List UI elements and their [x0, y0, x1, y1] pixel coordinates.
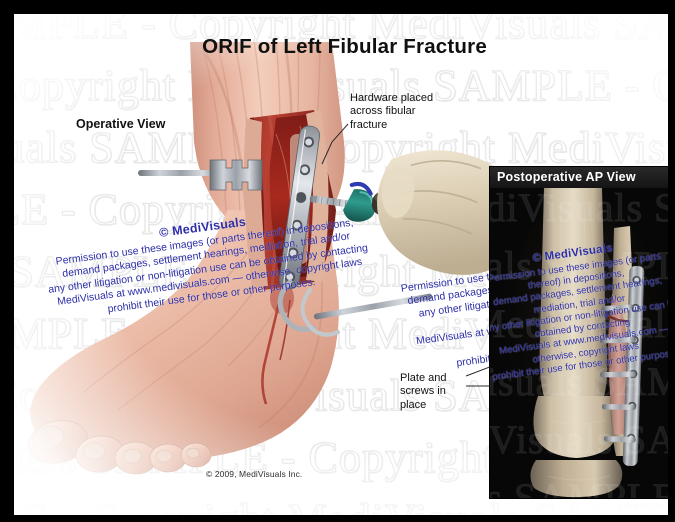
plate-screws-callout-line-2: screws in — [400, 385, 470, 398]
permission-watermark-left: © MediVisuals Permission to use these im… — [38, 198, 376, 325]
operative-view-label: Operative View — [76, 117, 165, 132]
page-title: ORIF of Left Fibular Fracture — [14, 35, 675, 59]
background-watermark-row: MediVisuals SAMPLE - Copyright MediVisua… — [14, 494, 675, 522]
postoperative-ap-view-header: Postoperative AP View — [490, 167, 672, 188]
hardware-callout-label: Hardware placed across fibular fracture — [350, 92, 455, 132]
permission-watermark-line-1: Permission to use these images (or parts… — [40, 215, 369, 271]
copyright-notice: © 2009, MediVisuals Inc. — [206, 469, 302, 479]
plate-screws-callout-line-3: place — [400, 399, 470, 412]
permission-watermark-line-4: MediVisuals at www.medivisuals.com — oth… — [45, 255, 374, 311]
postoperative-ap-view-image: MediVisuals SAMPLE - Copyright MediVisua… — [490, 188, 672, 498]
postoperative-ap-view-panel: Postoperative AP View — [490, 167, 672, 498]
leader-line-hardware — [322, 124, 348, 164]
xray-artwork — [490, 188, 672, 498]
hardware-callout-line-1: Hardware placed — [350, 92, 455, 105]
illustration-canvas: MediVisuals SAMPLE - Copyright MediVisua… — [14, 14, 675, 522]
illustration-page: MediVisuals SAMPLE - Copyright MediVisua… — [0, 0, 675, 522]
hardware-callout-line-3: fracture — [350, 119, 455, 132]
permission-watermark-line-5: prohibit their use for those or other pu… — [47, 268, 376, 324]
permission-watermark-line-2: demand packages, settlement hearings, me… — [42, 228, 371, 284]
permission-watermark-line-3: any other litigation or non-litigation u… — [44, 241, 373, 297]
background-watermark-row: MediVisuals SAMPLE - Copyright MediVisua… — [14, 60, 675, 111]
plate-screws-callout-label: Plate and screws in place — [400, 372, 470, 412]
hardware-callout-line-2: across fibular — [350, 105, 455, 118]
plate-screws-callout-line-1: Plate and — [400, 372, 470, 385]
permission-watermark-heading: © MediVisuals — [38, 198, 367, 257]
